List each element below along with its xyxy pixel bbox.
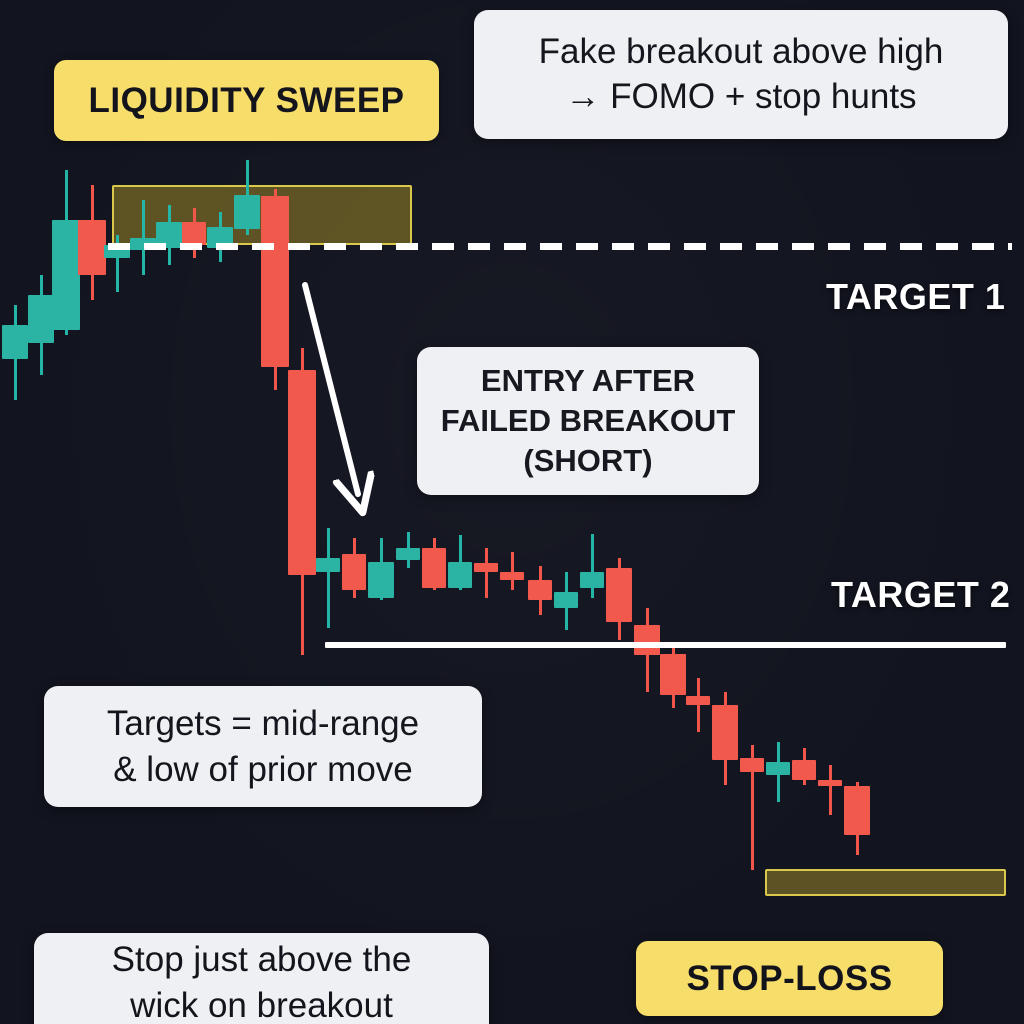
entry-arrow-icon bbox=[0, 0, 1024, 1024]
chart-canvas: LIQUIDITY SWEEP Fake breakout above high… bbox=[0, 0, 1024, 1024]
